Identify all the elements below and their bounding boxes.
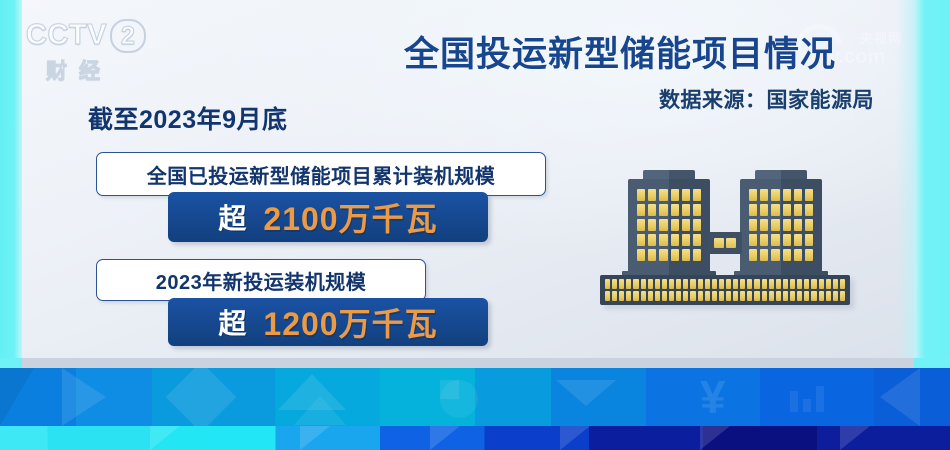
bar-chart-icon-bar [816,386,824,412]
bridge-window [726,238,736,248]
building-window [760,219,768,231]
accent-wedge [150,426,180,450]
base-window [811,291,816,301]
accent-wedge [700,426,730,450]
base-window [676,279,681,289]
base-window [641,291,646,301]
base-window [626,279,631,289]
base-window [776,279,781,289]
building-window [682,234,690,246]
building-window [671,219,679,231]
building-window [771,249,779,261]
building-window [637,249,645,261]
base-window [655,291,660,301]
base-window [712,279,717,289]
base-window [783,279,788,289]
building-window [659,189,667,201]
base-window [826,291,831,301]
building-window [648,219,656,231]
base-window [690,279,695,289]
bottom-gray-cyan-right [914,358,950,368]
building-window [771,204,779,216]
building-window [671,204,679,216]
building-tower [740,179,822,273]
building-window [783,219,791,231]
base-window [612,291,617,301]
building-window [693,189,701,201]
cctv-wordmark: CCTV [26,19,107,51]
building-window [805,219,813,231]
base-window [648,291,653,301]
cctv-logo-text: CCTV2 [26,18,161,53]
base-window [705,279,710,289]
building-window [783,249,791,261]
base-window [641,279,646,289]
base-window [740,279,745,289]
base-window [819,279,824,289]
base-window [705,291,710,301]
building-window [659,249,667,261]
base-window [712,291,717,301]
base-window [833,279,838,289]
metric-value-2: 1200万千瓦 [263,299,437,345]
base-window [762,291,767,301]
base-window [698,291,703,301]
building-window [771,234,779,246]
bottom-decorative-band: ¥ [0,368,950,426]
base-window [754,291,759,301]
accent-wedge [300,426,330,450]
base-window [726,291,731,301]
diamond-shape [166,368,237,426]
left-cyan-edge [0,0,22,368]
cctv-channel-number: 2 [110,19,146,53]
building-window [805,249,813,261]
data-source-label: 数据来源：国家能源局 [659,84,874,114]
base-window [840,291,845,301]
base-window [648,279,653,289]
base-window [790,279,795,289]
metric-label-box-2: 2023年新投运装机规模 [96,259,426,301]
broadcast-graphic: CCTV2 财经 央视网 cctv.com 全国投运新型储能项目情况 数据来源：… [0,0,950,450]
base-window [833,291,838,301]
building-window [794,234,802,246]
base-window [683,279,688,289]
metric-value-1: 2100万千瓦 [263,194,437,240]
building-window [760,189,768,201]
chevron-shape-right [880,368,920,426]
base-window [676,291,681,301]
building-window [783,189,791,201]
base-window [769,291,774,301]
base-window [804,291,809,301]
base-window [747,279,752,289]
base-window [754,279,759,289]
building-window [671,249,679,261]
metric-prefix-1: 超 [218,197,247,237]
building-window [794,204,802,216]
bar-chart-icon-bar [790,391,798,412]
building-window [682,249,690,261]
metric-label-2: 2023年新投运装机规模 [156,266,367,295]
building-window [760,204,768,216]
bottom-gray-strip [0,358,950,368]
base-window [669,279,674,289]
building-window [637,189,645,201]
base-window [783,291,788,301]
office-buildings-icon [600,170,850,305]
building-window [805,234,813,246]
base-window [747,291,752,301]
base-window [819,291,824,301]
base-window [619,291,624,301]
base-window [733,279,738,289]
base-window [733,291,738,301]
base-window [797,279,802,289]
base-window [719,279,724,289]
building-window [749,219,757,231]
metric-label-box-1: 全国已投运新型储能项目累计装机规模 [96,152,546,196]
base-window [740,291,745,301]
building-window [682,204,690,216]
base-window [612,279,617,289]
corner-wedge [0,368,34,426]
page-title: 全国投运新型储能项目情况 [404,26,836,77]
accent-wedge [430,426,460,450]
building-window [637,234,645,246]
base-window [797,291,802,301]
base-window [762,279,767,289]
base-window [619,279,624,289]
base-window [776,291,781,301]
building-window [783,204,791,216]
yen-currency-icon: ¥ [700,372,726,422]
right-cyan-edge [914,0,950,368]
base-window [719,291,724,301]
bottom-accent-strip [0,426,950,450]
metric-label-1: 全国已投运新型储能项目累计装机规模 [147,160,496,189]
base-window [840,279,845,289]
tower-window-grid [637,189,701,261]
building-window [693,204,701,216]
building-window [659,234,667,246]
pie-slice-icon [440,380,459,399]
tower-window-grid [749,189,813,261]
building-tower [628,179,710,273]
building-sky-bridge [708,232,742,254]
building-window [637,204,645,216]
building-window [794,219,802,231]
base-window [698,279,703,289]
building-window [794,189,802,201]
building-window [760,249,768,261]
building-window [648,204,656,216]
building-window [771,189,779,201]
base-window [633,279,638,289]
building-window [682,219,690,231]
building-window [749,234,757,246]
building-window [805,189,813,201]
metric-prefix-2: 超 [218,302,247,342]
cctv-channel-logo: CCTV2 财经 [26,18,161,80]
base-window [662,291,667,301]
right-edge-fade [896,0,914,368]
base-window [633,291,638,301]
base-window [662,279,667,289]
building-window [648,249,656,261]
building-window [693,249,701,261]
building-window [749,189,757,201]
building-window [659,219,667,231]
base-window [605,279,610,289]
bottom-gray-cyan-left [0,358,22,368]
as-of-date: 截至2023年9月底 [88,100,288,136]
building-window [760,234,768,246]
building-window [805,204,813,216]
bar-chart-icon-bar [803,399,811,412]
tower-roof-cap [643,170,695,179]
base-window [726,279,731,289]
base-window-grid [605,279,845,301]
building-window [671,189,679,201]
building-window [682,189,690,201]
base-window [769,279,774,289]
metric-value-bar-1: 超 2100万千瓦 [168,192,488,242]
base-window [655,279,660,289]
chevron-down-icon [556,380,616,406]
base-window [811,279,816,289]
building-window [648,189,656,201]
base-window [669,291,674,301]
building-base [600,275,850,305]
base-window [790,291,795,301]
building-window [671,234,679,246]
building-window [749,204,757,216]
base-window [690,291,695,301]
base-window [605,291,610,301]
building-window [637,219,645,231]
tower-roof-cap [755,170,807,179]
base-window [683,291,688,301]
base-window [804,279,809,289]
building-window [693,234,701,246]
building-window [783,234,791,246]
building-window [749,249,757,261]
building-window [648,234,656,246]
accent-wedge [560,426,590,450]
base-window [826,279,831,289]
bridge-window [714,238,724,248]
building-window [659,204,667,216]
accent-wedge [840,426,870,450]
cctv-channel-subtitle: 财经 [46,55,161,85]
chevron-shape [62,368,106,426]
building-window [693,219,701,231]
base-window [626,291,631,301]
triangle-up-shape-small [294,396,346,425]
metric-value-bar-2: 超 1200万千瓦 [168,298,488,346]
building-window [794,249,802,261]
building-window [771,219,779,231]
